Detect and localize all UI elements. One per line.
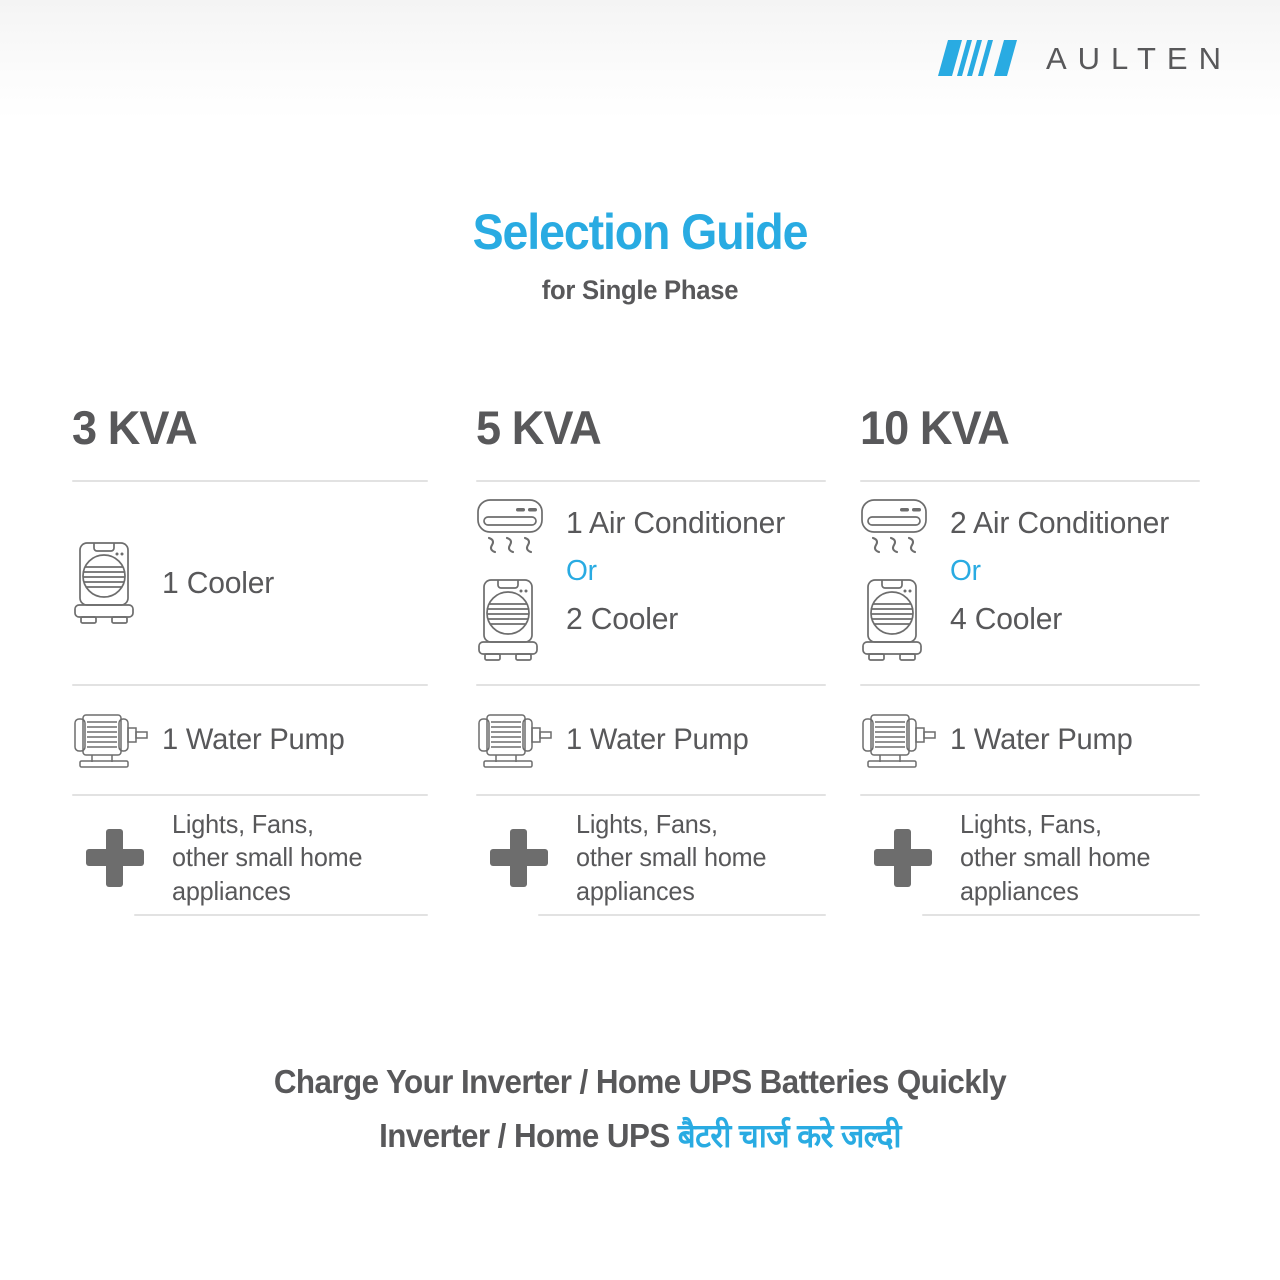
pump-text: 1 Water Pump [162,716,428,764]
extra-label: Lights, Fans, other small home appliance… [172,808,362,908]
water-pump-motor-icon [860,711,938,769]
appliance-text: 2 Air Conditioner Or 4 Cooler [950,498,1200,644]
appliance-section: 1 Air Conditioner Or 2 Cooler [476,482,826,684]
extra-label: Lights, Fans, other small home appliance… [960,808,1150,908]
pump-label: 1 Water Pump [566,716,818,764]
water-pump-motor-icon [476,711,554,769]
brand-logo: AULTEN [936,38,1232,78]
appliance-icons [860,498,950,662]
divider [134,914,428,916]
pump-label: 1 Water Pump [950,716,1193,764]
appliance-text: 1 Air Conditioner Or 2 Cooler [566,498,826,644]
footer-line-2-english: Inverter / Home UPS [379,1117,670,1154]
capacity-heading: 5 KVA [476,404,812,480]
pump-icon-wrap [860,711,950,769]
appliance-or-label: Or [566,548,818,594]
cooler-icon [476,578,540,662]
cooler-icon [860,578,924,662]
aulten-slanted-bars-logo [936,38,1018,78]
capacity-heading: 3 KVA [72,404,414,480]
divider [538,914,826,916]
title-block: Selection Guide for Single Phase [0,206,1280,306]
brand-name: AULTEN [1044,43,1232,74]
water-pump-motor-icon [72,711,150,769]
capacity-column-10kva: 10 KVA [860,404,1200,984]
water-pump-section: 1 Water Pump [860,686,1200,794]
appliance-primary-label: 1 Air Conditioner [566,498,818,548]
footer-line-2: Inverter / Home UPS बैटरी चार्ज करे जल्द… [32,1109,1248,1163]
selection-grid: 3 KVA [0,404,1280,984]
pump-icon-wrap [476,711,566,769]
extra-label: Lights, Fans, other small home appliance… [576,808,766,908]
pump-text: 1 Water Pump [566,716,826,764]
water-pump-section: 1 Water Pump [72,686,428,794]
air-conditioner-icon [476,498,546,564]
appliance-or-label: Or [950,548,1193,594]
appliance-secondary-label: 2 Cooler [566,594,818,644]
pump-icon-wrap [72,711,162,769]
appliance-icons [72,541,162,625]
extra-section: Lights, Fans, other small home appliance… [476,796,826,914]
plus-icon [874,829,932,887]
pump-text: 1 Water Pump [950,716,1200,764]
water-pump-section: 1 Water Pump [476,686,826,794]
divider [922,914,1200,916]
appliance-section: 1 Cooler [72,482,428,684]
capacity-column-5kva: 5 KVA [476,404,826,984]
appliance-secondary-label: 4 Cooler [950,594,1193,644]
plus-icon [490,829,548,887]
appliance-primary-label: 1 Cooler [162,558,420,608]
footer-line-2-hindi: बैटरी चार्ज करे जल्दी [678,1117,901,1154]
extra-section: Lights, Fans, other small home appliance… [860,796,1200,914]
page-title: Selection Guide [45,206,1235,259]
footer-block: Charge Your Inverter / Home UPS Batterie… [0,1055,1280,1164]
capacity-column-3kva: 3 KVA [72,404,428,984]
air-conditioner-icon [860,498,930,564]
page-subtitle: for Single Phase [32,275,1248,306]
capacity-heading: 10 KVA [860,404,1186,480]
appliance-text: 1 Cooler [162,558,428,608]
extra-section: Lights, Fans, other small home appliance… [72,796,428,914]
appliance-primary-label: 2 Air Conditioner [950,498,1193,548]
plus-icon [86,829,144,887]
appliance-section: 2 Air Conditioner Or 4 Cooler [860,482,1200,684]
pump-label: 1 Water Pump [162,716,420,764]
appliance-icons [476,498,566,662]
footer-line-1: Charge Your Inverter / Home UPS Batterie… [32,1055,1248,1109]
cooler-icon [72,541,136,625]
